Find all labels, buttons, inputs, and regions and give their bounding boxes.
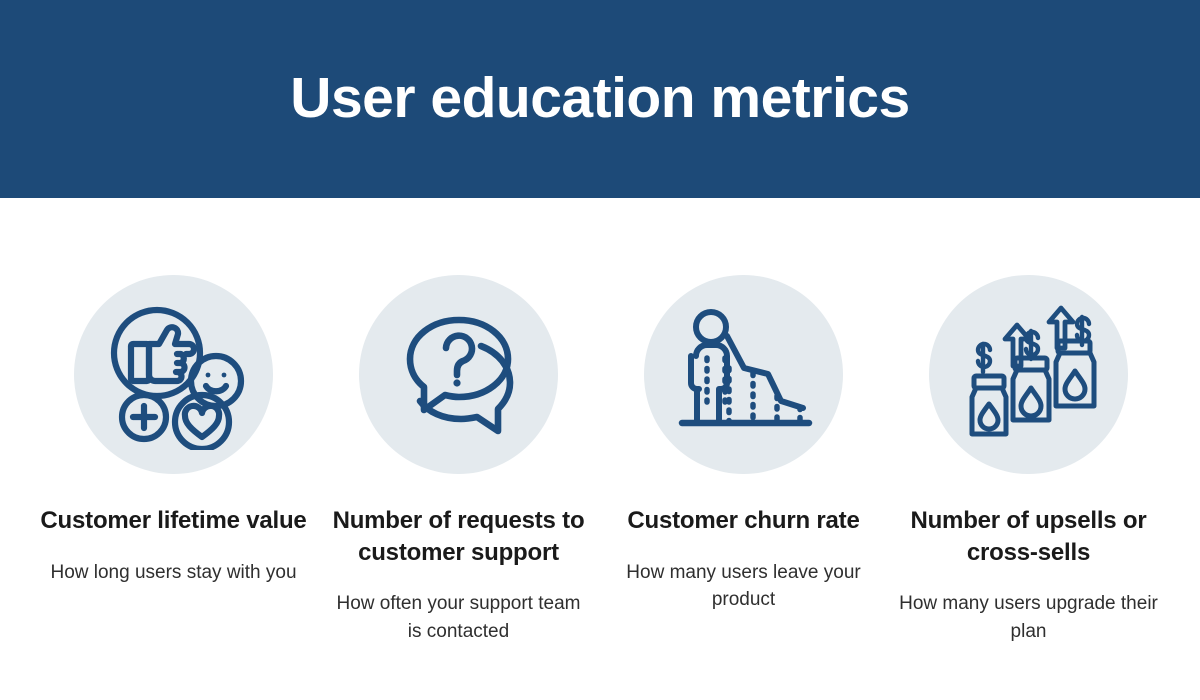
metrics-card-row: Customer lifetime value How long users s… bbox=[0, 198, 1200, 700]
icon-circle bbox=[644, 275, 843, 474]
metric-card-customer-lifetime-value: Customer lifetime value How long users s… bbox=[31, 198, 316, 586]
person-declining-chart-icon bbox=[669, 300, 819, 450]
header-banner: User education metrics bbox=[0, 0, 1200, 198]
metric-card-churn-rate: Customer churn rate How many users leave… bbox=[601, 198, 886, 614]
metric-card-description: How many users upgrade their plan bbox=[898, 590, 1160, 645]
speech-bubbles-question-icon bbox=[384, 300, 534, 450]
metric-card-description: How often your support team is contacted bbox=[328, 590, 590, 645]
icon-circle bbox=[929, 275, 1128, 474]
metric-card-upsells: Number of upsells or cross-sells How man… bbox=[886, 198, 1171, 646]
page-title: User education metrics bbox=[290, 69, 909, 129]
slide-root: User education metrics bbox=[0, 0, 1200, 700]
metric-card-description: How long users stay with you bbox=[50, 559, 296, 587]
metric-card-support-requests: Number of requests to customer support H… bbox=[316, 198, 601, 646]
metric-card-title: Number of requests to customer support bbox=[320, 505, 598, 568]
bottles-dollar-arrows-icon bbox=[954, 300, 1104, 450]
metric-card-title: Customer lifetime value bbox=[40, 505, 306, 537]
icon-circle bbox=[74, 275, 273, 474]
thumbs-up-reactions-icon bbox=[99, 300, 249, 450]
metric-card-title: Customer churn rate bbox=[627, 505, 859, 537]
metric-card-description: How many users leave your product bbox=[613, 559, 875, 614]
icon-circle bbox=[359, 275, 558, 474]
metric-card-title: Number of upsells or cross-sells bbox=[890, 505, 1168, 568]
